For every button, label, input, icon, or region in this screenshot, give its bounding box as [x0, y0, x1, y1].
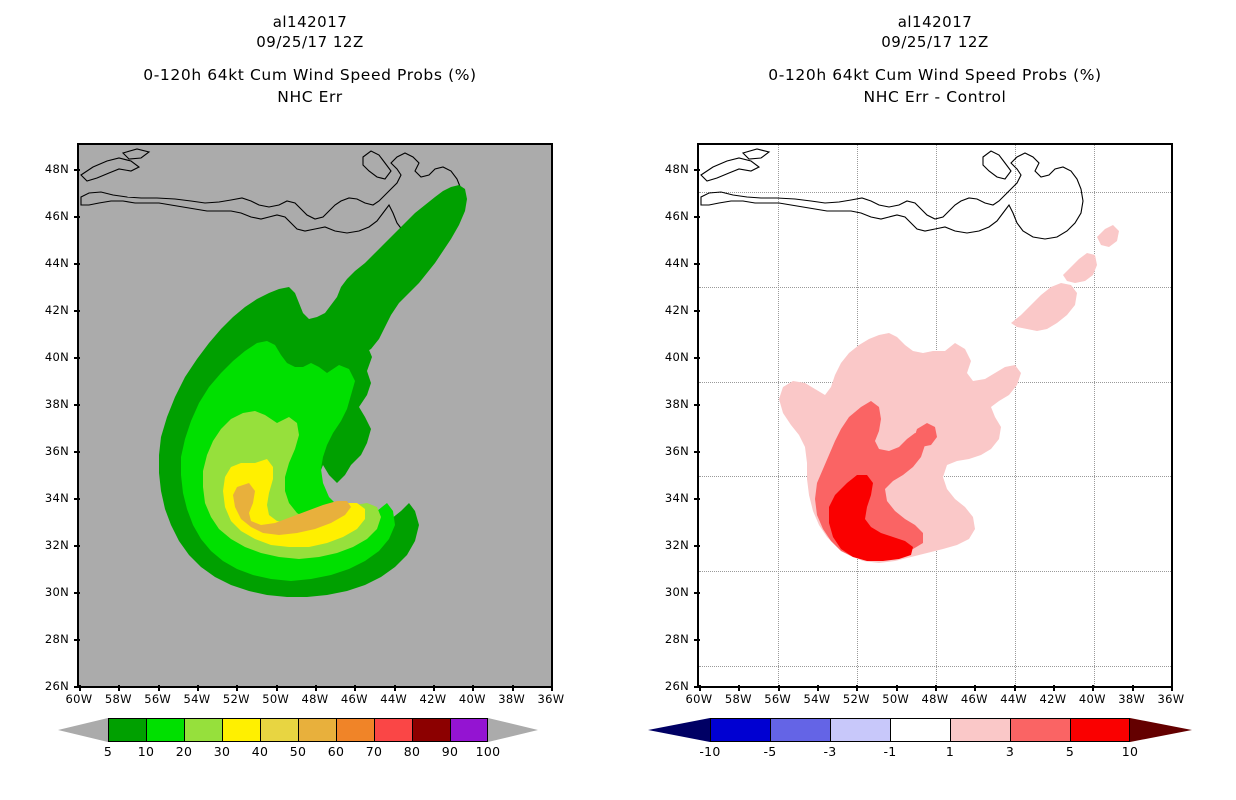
y-axis-label: 36N	[35, 444, 69, 458]
x-axis-label: 48W	[295, 692, 335, 706]
x-axis-label: 52W	[216, 692, 256, 706]
x-axis-label: 52W	[836, 692, 876, 706]
y-axis-tick	[74, 639, 80, 641]
y-axis-tick	[74, 686, 80, 688]
y-axis-tick	[74, 545, 80, 547]
left-colorbar[interactable]: 5102030405060708090100	[40, 718, 560, 766]
colorbar-swatch[interactable]	[710, 718, 770, 742]
x-axis-label: 60W	[59, 692, 99, 706]
right-map-plot[interactable]	[697, 143, 1173, 688]
right-storm-id: al142017	[660, 12, 1210, 32]
y-axis-label: 44N	[655, 256, 689, 270]
y-axis-label: 46N	[35, 209, 69, 223]
colorbar-swatch[interactable]	[450, 718, 488, 742]
x-axis-tick	[738, 685, 740, 691]
x-axis-label: 54W	[797, 692, 837, 706]
colorbar-swatch[interactable]	[222, 718, 260, 742]
coastline-paths	[701, 149, 1083, 239]
y-axis-label: 42N	[655, 303, 689, 317]
y-axis-tick	[74, 404, 80, 406]
y-axis-tick	[74, 169, 80, 171]
colorbar-swatch[interactable]	[1010, 718, 1070, 742]
colorbar-tick-label: 3	[988, 744, 1032, 759]
left-map-canvas	[79, 145, 551, 686]
y-axis-tick	[694, 216, 700, 218]
y-axis-tick	[694, 545, 700, 547]
x-axis-tick	[1092, 685, 1094, 691]
colorbar-swatch[interactable]	[146, 718, 184, 742]
right-colorbar[interactable]: -10-5-3-113510	[660, 718, 1180, 766]
x-axis-label: 50W	[256, 692, 296, 706]
x-axis-label: 38W	[492, 692, 532, 706]
y-axis-tick	[694, 451, 700, 453]
x-axis-tick	[935, 685, 937, 691]
x-axis-tick	[276, 685, 278, 691]
colorbar-tick-label: -1	[868, 744, 912, 759]
x-axis-tick	[551, 685, 553, 691]
left-subtitle: NHC Err	[40, 86, 580, 108]
colorbar-swatch[interactable]	[336, 718, 374, 742]
y-axis-label: 28N	[655, 632, 689, 646]
x-axis-label: 36W	[1151, 692, 1191, 706]
y-axis-tick	[694, 404, 700, 406]
right-subtitle: NHC Err - Control	[660, 86, 1210, 108]
x-axis-label: 44W	[374, 692, 414, 706]
left-title: 0-120h 64kt Cum Wind Speed Probs (%)	[40, 64, 580, 86]
y-axis-tick	[694, 592, 700, 594]
x-axis-tick	[433, 685, 435, 691]
x-axis-tick	[236, 685, 238, 691]
colorbar-swatch[interactable]	[412, 718, 450, 742]
y-axis-tick	[694, 263, 700, 265]
colorbar-over-arrow	[1130, 718, 1192, 742]
colorbar-swatch[interactable]	[770, 718, 830, 742]
left-map-plot[interactable]	[77, 143, 553, 688]
x-axis-tick	[974, 685, 976, 691]
y-axis-label: 30N	[35, 585, 69, 599]
x-axis-label: 48W	[915, 692, 955, 706]
x-axis-label: 58W	[98, 692, 138, 706]
y-axis-label: 40N	[35, 350, 69, 364]
colorbar-tick-label: 5	[1048, 744, 1092, 759]
y-axis-label: 46N	[655, 209, 689, 223]
colorbar-over-arrow	[488, 718, 538, 742]
x-axis-label: 56W	[138, 692, 178, 706]
y-axis-tick	[74, 310, 80, 312]
y-axis-label: 42N	[35, 303, 69, 317]
right-title: 0-120h 64kt Cum Wind Speed Probs (%)	[660, 64, 1210, 86]
x-axis-label: 56W	[758, 692, 798, 706]
x-axis-label: 46W	[334, 692, 374, 706]
x-axis-tick	[1171, 685, 1173, 691]
x-axis-label: 40W	[452, 692, 492, 706]
colorbar-swatch[interactable]	[890, 718, 950, 742]
y-axis-label: 32N	[655, 538, 689, 552]
x-axis-tick	[896, 685, 898, 691]
colorbar-swatch[interactable]	[950, 718, 1010, 742]
x-axis-tick	[778, 685, 780, 691]
colorbar-swatch[interactable]	[260, 718, 298, 742]
colorbar-swatch[interactable]	[108, 718, 146, 742]
x-axis-label: 42W	[1033, 692, 1073, 706]
x-axis-label: 58W	[718, 692, 758, 706]
y-axis-tick	[74, 357, 80, 359]
y-axis-tick	[74, 263, 80, 265]
y-axis-label: 36N	[655, 444, 689, 458]
colorbar-tick-label: 1	[928, 744, 972, 759]
left-panel-titles: al142017 09/25/17 12Z 0-120h 64kt Cum Wi…	[40, 12, 580, 108]
x-axis-label: 42W	[413, 692, 453, 706]
x-axis-tick	[394, 685, 396, 691]
colorbar-tick-label: 100	[466, 744, 510, 759]
y-axis-tick	[74, 592, 80, 594]
x-axis-tick	[472, 685, 474, 691]
x-axis-tick	[817, 685, 819, 691]
y-axis-label: 38N	[655, 397, 689, 411]
y-axis-label: 44N	[35, 256, 69, 270]
colorbar-swatch[interactable]	[184, 718, 222, 742]
x-axis-tick	[158, 685, 160, 691]
colorbar-tick-label: -10	[688, 744, 732, 759]
x-axis-label: 40W	[1072, 692, 1112, 706]
right-panel-titles: al142017 09/25/17 12Z 0-120h 64kt Cum Wi…	[660, 12, 1210, 108]
x-axis-label: 38W	[1112, 692, 1152, 706]
y-axis-label: 26N	[655, 679, 689, 693]
y-axis-label: 28N	[35, 632, 69, 646]
colorbar-swatch[interactable]	[374, 718, 412, 742]
colorbar-tick-label: 10	[1108, 744, 1152, 759]
y-axis-label: 48N	[655, 162, 689, 176]
x-axis-tick	[1132, 685, 1134, 691]
y-axis-tick	[694, 498, 700, 500]
colorbar-tick-label: -3	[808, 744, 852, 759]
y-axis-label: 30N	[655, 585, 689, 599]
colorbar-under-arrow	[648, 718, 710, 742]
left-date: 09/25/17 12Z	[40, 32, 580, 52]
y-axis-tick	[74, 498, 80, 500]
x-axis-label: 60W	[679, 692, 719, 706]
colorbar-swatch[interactable]	[1070, 718, 1130, 742]
x-axis-label: 54W	[177, 692, 217, 706]
y-axis-label: 34N	[655, 491, 689, 505]
x-axis-tick	[1053, 685, 1055, 691]
y-axis-label: 32N	[35, 538, 69, 552]
x-axis-tick	[512, 685, 514, 691]
colorbar-swatches[interactable]	[710, 718, 1130, 742]
x-axis-label: 46W	[954, 692, 994, 706]
y-axis-tick	[694, 169, 700, 171]
colorbar-tick-label: -5	[748, 744, 792, 759]
colorbar-swatch[interactable]	[298, 718, 336, 742]
y-axis-label: 34N	[35, 491, 69, 505]
x-axis-tick	[197, 685, 199, 691]
right-date: 09/25/17 12Z	[660, 32, 1210, 52]
x-axis-label: 50W	[876, 692, 916, 706]
y-axis-label: 38N	[35, 397, 69, 411]
x-axis-tick	[354, 685, 356, 691]
y-axis-label: 40N	[655, 350, 689, 364]
y-axis-tick	[74, 451, 80, 453]
y-axis-tick	[74, 216, 80, 218]
colorbar-swatch[interactable]	[830, 718, 890, 742]
x-axis-tick	[118, 685, 120, 691]
x-axis-label: 44W	[994, 692, 1034, 706]
colorbar-swatches[interactable]	[108, 718, 488, 742]
x-axis-tick	[315, 685, 317, 691]
x-axis-label: 36W	[531, 692, 571, 706]
y-axis-tick	[694, 639, 700, 641]
x-axis-tick	[856, 685, 858, 691]
left-storm-id: al142017	[40, 12, 580, 32]
y-axis-tick	[694, 357, 700, 359]
colorbar-under-arrow	[58, 718, 108, 742]
y-axis-tick	[694, 686, 700, 688]
y-axis-label: 48N	[35, 162, 69, 176]
y-axis-label: 26N	[35, 679, 69, 693]
right-map-canvas	[699, 145, 1171, 686]
x-axis-tick	[1014, 685, 1016, 691]
y-axis-tick	[694, 310, 700, 312]
